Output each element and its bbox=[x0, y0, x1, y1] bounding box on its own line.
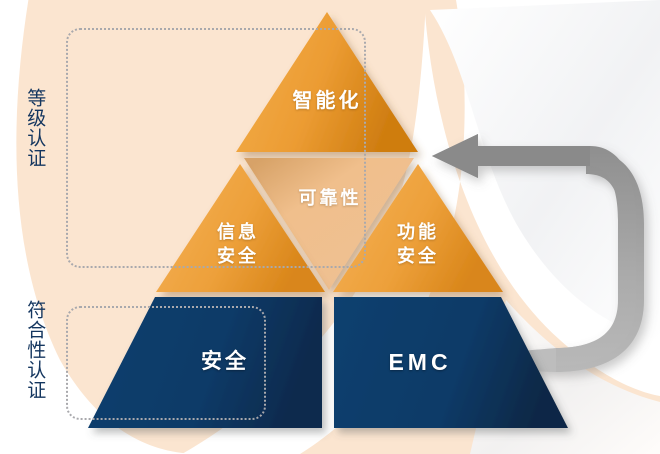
tier-label-reliability: 可靠性 bbox=[276, 186, 384, 210]
tier-label-functional-safety: 功能 安全 bbox=[370, 220, 466, 269]
tier-label-safety: 安全 bbox=[165, 348, 285, 376]
tier-label-apex: 智能化 bbox=[267, 88, 387, 115]
tier-label-information-security: 信息 安全 bbox=[190, 220, 286, 269]
side-label-level-certification: 等级认证 bbox=[24, 88, 45, 168]
side-label-compliance-certification: 符合性认证 bbox=[24, 300, 45, 400]
tier-label-emc: EMC bbox=[340, 347, 500, 378]
diagram-canvas: 等级认证 符合性认证 智能化 可靠性 信息 安全 功能 安全 安全 EMC bbox=[0, 0, 660, 454]
